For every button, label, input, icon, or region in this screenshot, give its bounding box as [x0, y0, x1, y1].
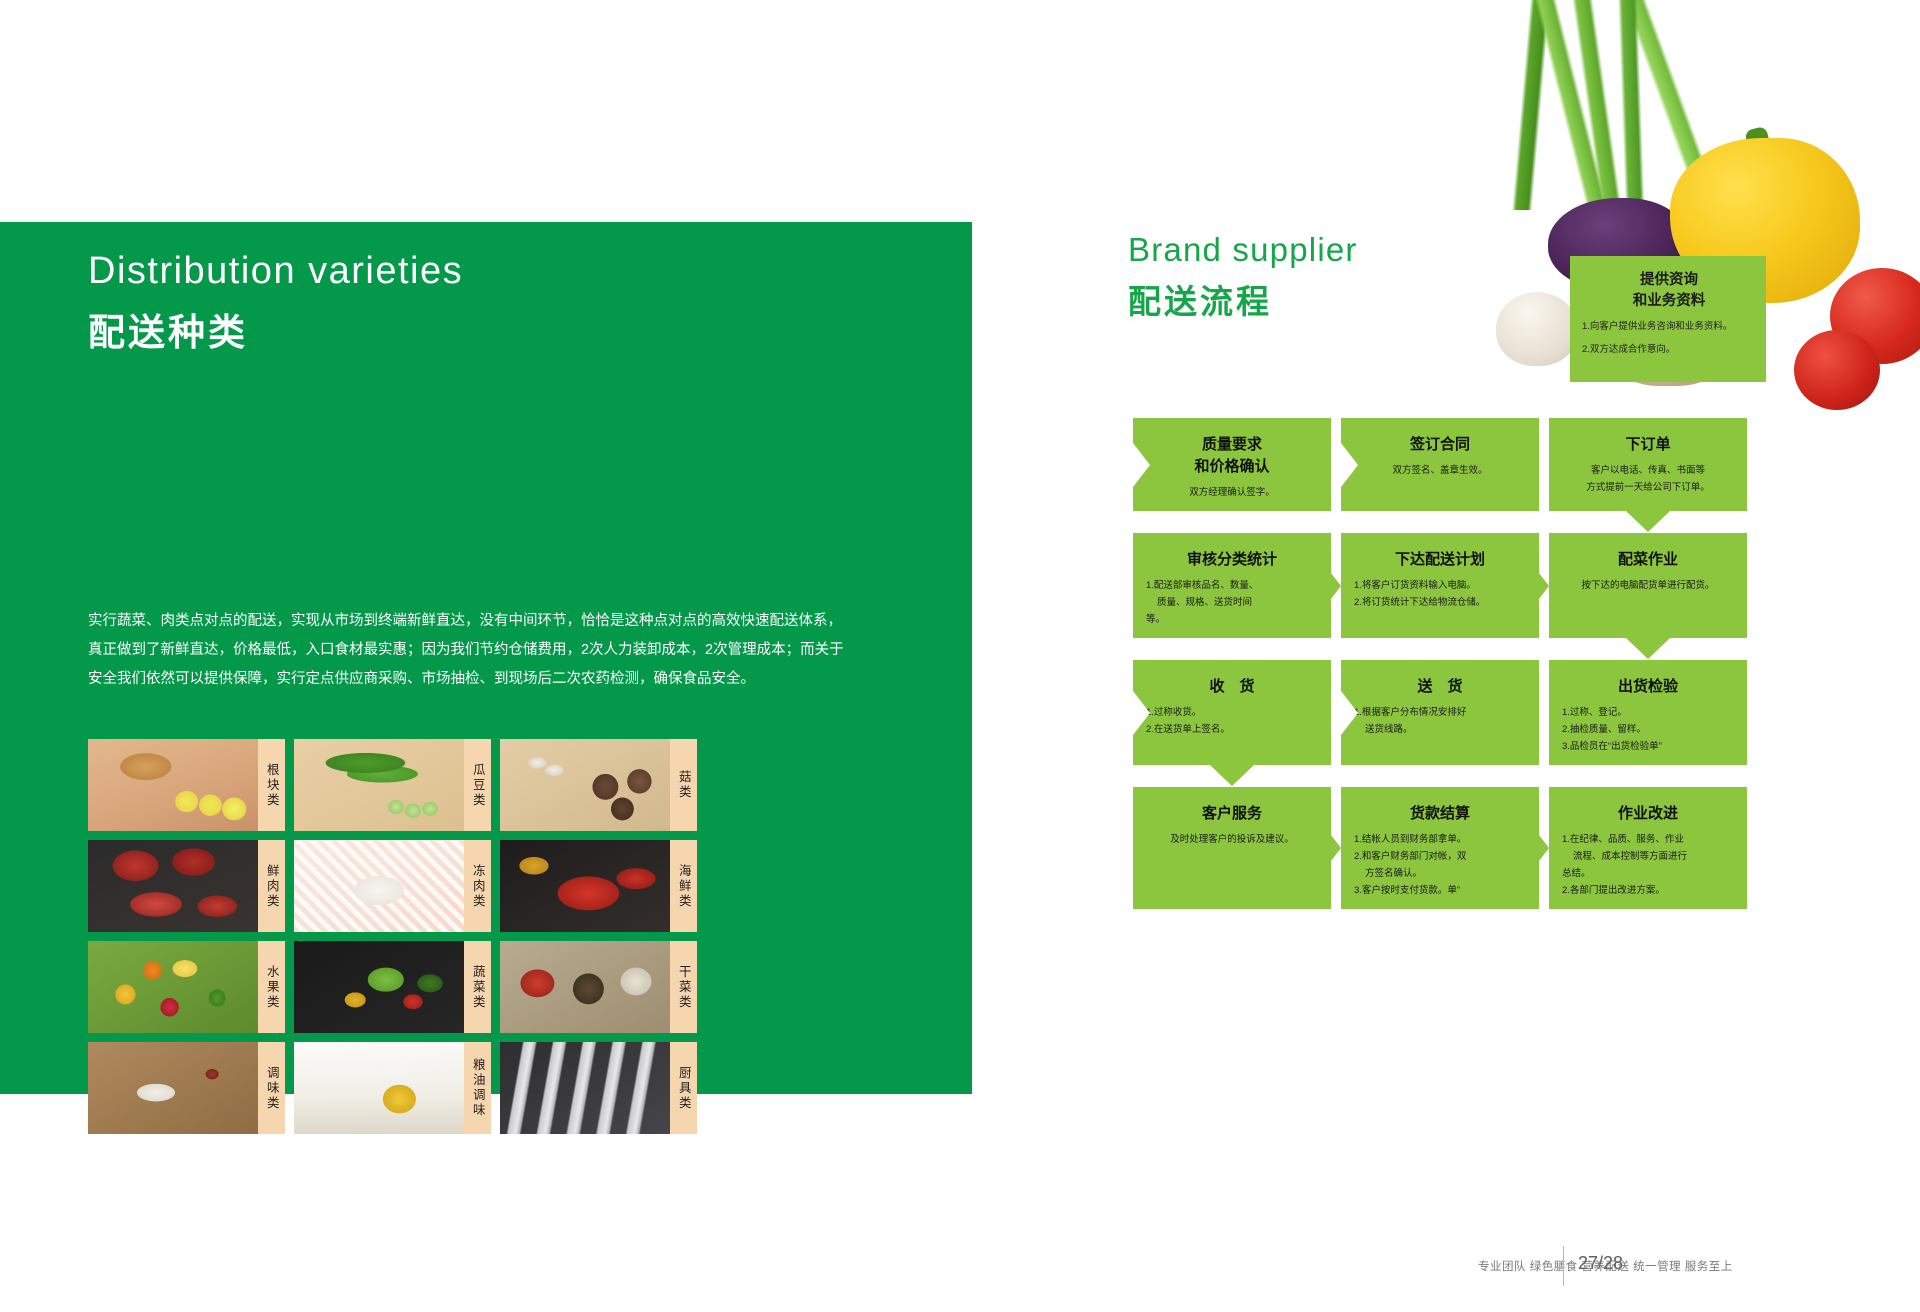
category-label-text: 鲜肉类 [265, 864, 278, 909]
flow-step-body: 双方经理确认签字。 [1146, 484, 1318, 501]
flow-step-line: 2.在送货单上签名。 [1146, 721, 1318, 738]
category-label: 鲜肉类 [258, 840, 285, 932]
flow-step-body: 1.将客户订货资料输入电脑。 2.将订货统计下达给物流仓储。 [1354, 577, 1526, 611]
flow-step-title-text: 质量要求 和价格确认 [1194, 436, 1269, 475]
category-label-text: 根块类 [265, 763, 278, 808]
category-label-text: 海鲜类 [677, 864, 690, 909]
flow-step-line: 1.在纪律、品质、服务、作业 [1562, 831, 1734, 848]
flow-step-receive-goods[interactable]: 收 货 1.过称收货。 2.在送货单上签名。 [1133, 660, 1331, 765]
category-cell-root-vegetables[interactable]: 根块类 [88, 739, 285, 831]
flow-step-line: 1.结帐人员到财务部拿单。 [1354, 831, 1526, 848]
flow-step-line: 1.过称收货。 [1146, 704, 1318, 721]
paragraph-line: 安全我们依然可以提供保障，实行定点供应商采购、市场抽检、到现场后二次农药检测，确… [88, 665, 888, 694]
category-label: 根块类 [258, 739, 285, 831]
fruit-photo [88, 941, 258, 1033]
flow-step-shipment-inspection[interactable]: 出货检验 1.过称、登记。 2.抽检质量、留样。 3.品检员在“出货检验单” [1549, 660, 1747, 765]
flow-step-title-text: 客户服务 [1202, 805, 1262, 822]
category-label-text: 干菜类 [677, 965, 690, 1010]
grid-row: 调味类 粮油调味 厨具类 [88, 1042, 860, 1134]
category-label-text: 粮油调味 [471, 1058, 484, 1118]
brochure-page: Distribution varieties 配送种类 实行蔬菜、肉类点对点的配… [0, 0, 1920, 1312]
flow-step-line: 1.过称、登记。 [1562, 704, 1734, 721]
flow-step-line: 等。 [1146, 611, 1318, 628]
flow-step-line: 总结。 [1562, 865, 1734, 882]
flow-step-delivery-plan[interactable]: 下达配送计划 1.将客户订货资料输入电脑。 2.将订货统计下达给物流仓储。 [1341, 533, 1539, 638]
flow-step-title-text: 出货检验 [1618, 678, 1678, 695]
flow-step-body: 按下达的电脑配货单进行配货。 [1562, 577, 1734, 594]
flow-step-title: 下订单 [1562, 434, 1734, 456]
flow-step-title: 下达配送计划 [1354, 549, 1526, 571]
flow-arrow-down-icon [1626, 511, 1670, 532]
frozen-meat-photo [294, 840, 464, 932]
category-cell-seasoning[interactable]: 调味类 [88, 1042, 285, 1134]
oil-photo [294, 1042, 464, 1134]
flow-step-title: 签订合同 [1354, 434, 1526, 456]
flow-step-process-improvement[interactable]: 作业改进 1.在纪律、品质、服务、作业 流程、成本控制等方面进行 总结。 2.各… [1549, 787, 1747, 909]
sauce-photo [88, 1042, 258, 1134]
flow-step-body: 1.过称收货。 2.在送货单上签名。 [1146, 704, 1318, 738]
flow-step-line: 方式提前一天给公司下订单。 [1562, 479, 1734, 496]
category-label-text: 瓜豆类 [471, 763, 484, 808]
flow-step-body: 及时处理客户的投诉及建议。 [1146, 831, 1318, 848]
flow-step-line: 质量、规格、送货时间 [1146, 594, 1318, 611]
flow-step-title-text: 送 货 [1417, 678, 1462, 695]
flow-step-line: 2.各部门提出改进方案。 [1562, 882, 1734, 899]
flow-step-quality-price[interactable]: 质量要求 和价格确认 双方经理确认签字。 [1133, 418, 1331, 511]
flow-step-title-text: 收 货 [1209, 678, 1254, 695]
fresh-meat-photo [88, 840, 258, 932]
left-paragraph: 实行蔬菜、肉类点对点的配送，实现从市场到终端新鲜直达，没有中间环节，恰恰是这种点… [88, 607, 888, 694]
category-cell-dried-goods[interactable]: 干菜类 [500, 941, 697, 1033]
flow-row-4: 客户服务 及时处理客户的投诉及建议。 货款结算 1.结帐人员到财务部拿单。 2.… [1133, 787, 1771, 909]
flow-step-sign-contract[interactable]: 签订合同 双方签名、盖章生效。 [1341, 418, 1539, 511]
category-label: 菇类 [670, 739, 697, 831]
category-label: 海鲜类 [670, 840, 697, 932]
flow-step-title: 审核分类统计 [1146, 549, 1318, 571]
flow-step-title: 配菜作业 [1562, 549, 1734, 571]
category-label: 蔬菜类 [464, 941, 491, 1033]
category-label: 冻肉类 [464, 840, 491, 932]
category-cell-gourds-beans[interactable]: 瓜豆类 [294, 739, 491, 831]
flow-step-line: 3.客户按时支付货款。单” [1354, 882, 1526, 899]
footer-divider [1563, 1246, 1564, 1286]
food-category-grid: 根块类 瓜豆类 菇类 鲜肉类 冻肉类 [88, 739, 860, 1143]
category-label: 水果类 [258, 941, 285, 1033]
flow-step-body: 1.在纪律、品质、服务、作业 流程、成本控制等方面进行 总结。 2.各部门提出改… [1562, 831, 1734, 899]
category-label-text: 冻肉类 [471, 864, 484, 909]
flow-step-title-text: 配菜作业 [1618, 551, 1678, 568]
flow-step-title: 出货检验 [1562, 676, 1734, 698]
category-label-text: 水果类 [265, 965, 278, 1010]
grid-row: 水果类 蔬菜类 干菜类 [88, 941, 860, 1033]
flow-step-title-text: 作业改进 [1618, 805, 1678, 822]
flow-step-body: 1.配送部审核品名、数量、 质量、规格、送货时间 等。 [1146, 577, 1318, 628]
flow-step-line: 客户以电话、传真、书面等 [1562, 462, 1734, 479]
category-label: 调味类 [258, 1042, 285, 1134]
category-label: 厨具类 [670, 1042, 697, 1134]
flow-step-line: 双方经理确认签字。 [1146, 484, 1318, 501]
flow-step-title-text: 签订合同 [1410, 436, 1470, 453]
flow-step-body: 客户以电话、传真、书面等 方式提前一天给公司下订单。 [1562, 462, 1734, 496]
flow-step-title-text: 下达配送计划 [1395, 551, 1485, 568]
flow-step-title-text: 下订单 [1625, 436, 1670, 453]
flow-arrow-down-icon [1210, 765, 1254, 786]
category-label-text: 蔬菜类 [471, 965, 484, 1010]
right-title-chinese: 配送流程 [1128, 275, 1272, 323]
category-cell-seafood[interactable]: 海鲜类 [500, 840, 697, 932]
right-title-english: Brand supplier [1128, 231, 1358, 269]
flow-step-title: 送 货 [1354, 676, 1526, 698]
delivery-flow-chart: 质量要求 和价格确认 双方经理确认签字。 签订合同 双方签名、盖章生效。 下订单 [1133, 418, 1771, 931]
left-title-chinese: 配送种类 [88, 302, 248, 356]
flow-step-line: 送货线路。 [1354, 721, 1526, 738]
distribution-varieties-panel: Distribution varieties 配送种类 实行蔬菜、肉类点对点的配… [0, 222, 972, 1094]
flow-row-3: 收 货 1.过称收货。 2.在送货单上签名。 送 货 1.根据客户分布情况安排好… [1133, 660, 1771, 765]
paragraph-line: 实行蔬菜、肉类点对点的配送，实现从市场到终端新鲜直达，没有中间环节，恰恰是这种点… [88, 607, 888, 636]
flow-step-line: 1.根据客户分布情况安排好 [1354, 704, 1526, 721]
left-title-english: Distribution varieties [88, 250, 463, 293]
dried-goods-photo [500, 941, 670, 1033]
flow-step-body: 1.过称、登记。 2.抽检质量、留样。 3.品检员在“出货检验单” [1562, 704, 1734, 755]
category-cell-fruit[interactable]: 水果类 [88, 941, 285, 1033]
flow-step-line: 按下达的电脑配货单进行配货。 [1562, 577, 1734, 594]
flow-intro-item-2: 2.双方达成合作意向。 [1582, 341, 1756, 358]
flow-step-body: 1.结帐人员到财务部拿单。 2.和客户财务部门对帐，双 方签名确认。 3.客户按… [1354, 831, 1526, 899]
flow-step-line: 及时处理客户的投诉及建议。 [1146, 831, 1318, 848]
grid-row: 根块类 瓜豆类 菇类 [88, 739, 860, 831]
flow-step-line: 方签名确认。 [1354, 865, 1526, 882]
category-cell-kitchenware[interactable]: 厨具类 [500, 1042, 697, 1134]
flow-step-title-text: 货款结算 [1410, 805, 1470, 822]
tomato-illustration [1794, 330, 1880, 410]
cucumber-photo [294, 739, 464, 831]
flow-step-customer-service[interactable]: 客户服务 及时处理客户的投诉及建议。 [1133, 787, 1331, 909]
flow-step-line: 流程、成本控制等方面进行 [1562, 848, 1734, 865]
category-cell-vegetables[interactable]: 蔬菜类 [294, 941, 491, 1033]
flow-row-2: 审核分类统计 1.配送部审核品名、数量、 质量、规格、送货时间 等。 下达配送计… [1133, 533, 1771, 638]
flow-step-line: 2.和客户财务部门对帐，双 [1354, 848, 1526, 865]
garlic-illustration [1496, 292, 1578, 366]
flow-step-place-order[interactable]: 下订单 客户以电话、传真、书面等 方式提前一天给公司下订单。 [1549, 418, 1747, 511]
category-label-text: 调味类 [265, 1066, 278, 1111]
flow-step-line: 2.将订货统计下达给物流仓储。 [1354, 594, 1526, 611]
vegetable-photo [294, 941, 464, 1033]
flow-row-1: 质量要求 和价格确认 双方经理确认签字。 签订合同 双方签名、盖章生效。 下订单 [1133, 418, 1771, 511]
flow-intro-title-line2: 和业务资料 [1633, 293, 1706, 309]
flow-step-title: 客户服务 [1146, 803, 1318, 825]
flow-step-title: 质量要求 和价格确认 [1146, 434, 1318, 478]
category-label: 粮油调味 [464, 1042, 491, 1134]
flow-intro-title: 提供资询 和业务资料 [1582, 270, 1756, 312]
mushroom-photo [500, 739, 670, 831]
category-label-text: 厨具类 [677, 1066, 690, 1111]
flow-step-line: 1.配送部审核品名、数量、 [1146, 577, 1318, 594]
flow-step-title: 收 货 [1146, 676, 1318, 698]
seafood-photo [500, 840, 670, 932]
flow-step-title: 货款结算 [1354, 803, 1526, 825]
flow-step-deliver-goods[interactable]: 送 货 1.根据客户分布情况安排好 送货线路。 [1341, 660, 1539, 765]
category-label-text: 菇类 [677, 770, 690, 800]
page-number: 27/28 [1578, 1253, 1623, 1274]
category-cell-fresh-meat[interactable]: 鲜肉类 [88, 840, 285, 932]
category-cell-mushrooms[interactable]: 菇类 [500, 739, 697, 831]
category-cell-frozen-meat[interactable]: 冻肉类 [294, 840, 491, 932]
flow-step-dish-prep[interactable]: 配菜作业 按下达的电脑配货单进行配货。 [1549, 533, 1747, 638]
flow-step-review-classify[interactable]: 审核分类统计 1.配送部审核品名、数量、 质量、规格、送货时间 等。 [1133, 533, 1331, 638]
flow-step-title-text: 审核分类统计 [1187, 551, 1277, 568]
grid-row: 鲜肉类 冻肉类 海鲜类 [88, 840, 860, 932]
flow-step-line: 双方签名、盖章生效。 [1354, 462, 1526, 479]
flow-step-title: 作业改进 [1562, 803, 1734, 825]
flow-step-payment-settlement[interactable]: 货款结算 1.结帐人员到财务部拿单。 2.和客户财务部门对帐，双 方签名确认。 … [1341, 787, 1539, 909]
flow-step-line: 3.品检员在“出货检验单” [1562, 738, 1734, 755]
category-label: 瓜豆类 [464, 739, 491, 831]
knife-photo [500, 1042, 670, 1134]
category-cell-grain-oil[interactable]: 粮油调味 [294, 1042, 491, 1134]
paragraph-line: 真正做到了新鲜直达，价格最低，入口食材最实惠；因为我们节约仓储费用，2次人力装卸… [88, 636, 888, 665]
flow-step-line: 1.将客户订货资料输入电脑。 [1354, 577, 1526, 594]
flow-step-body: 双方签名、盖章生效。 [1354, 462, 1526, 479]
flow-step-body: 1.根据客户分布情况安排好 送货线路。 [1354, 704, 1526, 738]
category-label: 干菜类 [670, 941, 697, 1033]
flow-arrow-down-icon [1626, 638, 1670, 659]
flow-intro-box[interactable]: 提供资询 和业务资料 1.向客户提供业务咨询和业务资料。 2.双方达成合作意向。 [1570, 256, 1766, 382]
flow-step-line: 2.抽检质量、留样。 [1562, 721, 1734, 738]
flow-intro-item-1: 1.向客户提供业务咨询和业务资料。 [1582, 318, 1756, 335]
flow-intro-title-line1: 提供资询 [1640, 272, 1698, 288]
ginger-photo [88, 739, 258, 831]
